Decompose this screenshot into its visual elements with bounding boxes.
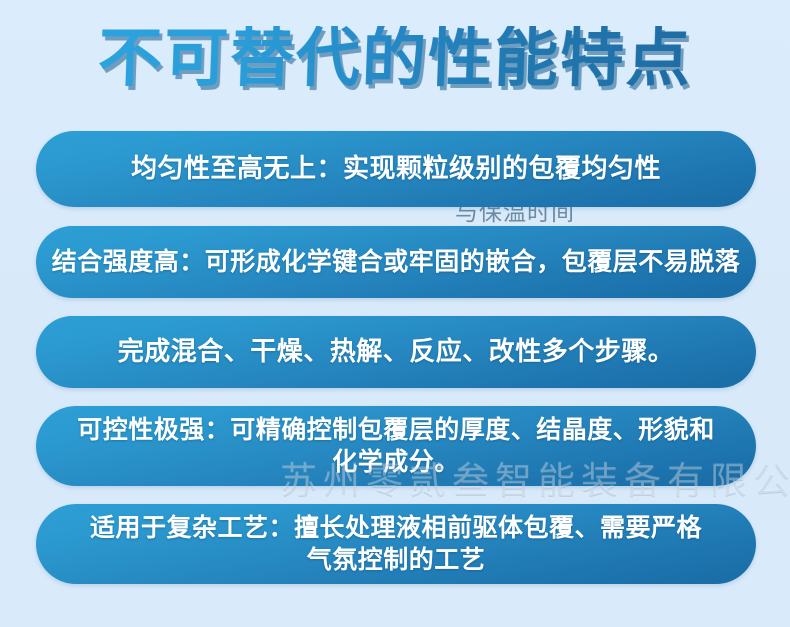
feature-pill-label: 可控性极强：可精确控制包覆层的厚度、结晶度、形貌和 化学成分。 <box>77 414 715 478</box>
feature-pill-multi-step: 完成混合、干燥、热解、反应、改性多个步骤。 <box>36 316 756 388</box>
feature-pill-controllability: 可控性极强：可精确控制包覆层的厚度、结晶度、形貌和 化学成分。 <box>36 406 756 486</box>
feature-list: 均匀性至高无上：实现颗粒级别的包覆均匀性 结合强度高：可形成化学键合或牢固的嵌合… <box>0 0 790 627</box>
feature-pill-label: 适用于复杂工艺：擅长处理液相前驱体包覆、需要严格 气氛控制的工艺 <box>90 512 702 576</box>
feature-pill-label: 完成混合、干燥、热解、反应、改性多个步骤。 <box>118 335 675 368</box>
feature-pill-bond-strength: 结合强度高：可形成化学键合或牢固的嵌合，包覆层不易脱落 <box>36 226 756 298</box>
feature-pill-label: 结合强度高：可形成化学键合或牢固的嵌合，包覆层不易脱落 <box>52 246 741 278</box>
poster-canvas: 不可替代的性能特点 与保温时间 均匀性至高无上：实现颗粒级别的包覆均匀性 结合强… <box>0 0 790 627</box>
feature-pill-uniformity: 均匀性至高无上：实现颗粒级别的包覆均匀性 <box>36 131 756 207</box>
feature-pill-label: 均匀性至高无上：实现颗粒级别的包覆均匀性 <box>131 152 661 185</box>
feature-pill-complex-process: 适用于复杂工艺：擅长处理液相前驱体包覆、需要严格 气氛控制的工艺 <box>36 504 756 584</box>
